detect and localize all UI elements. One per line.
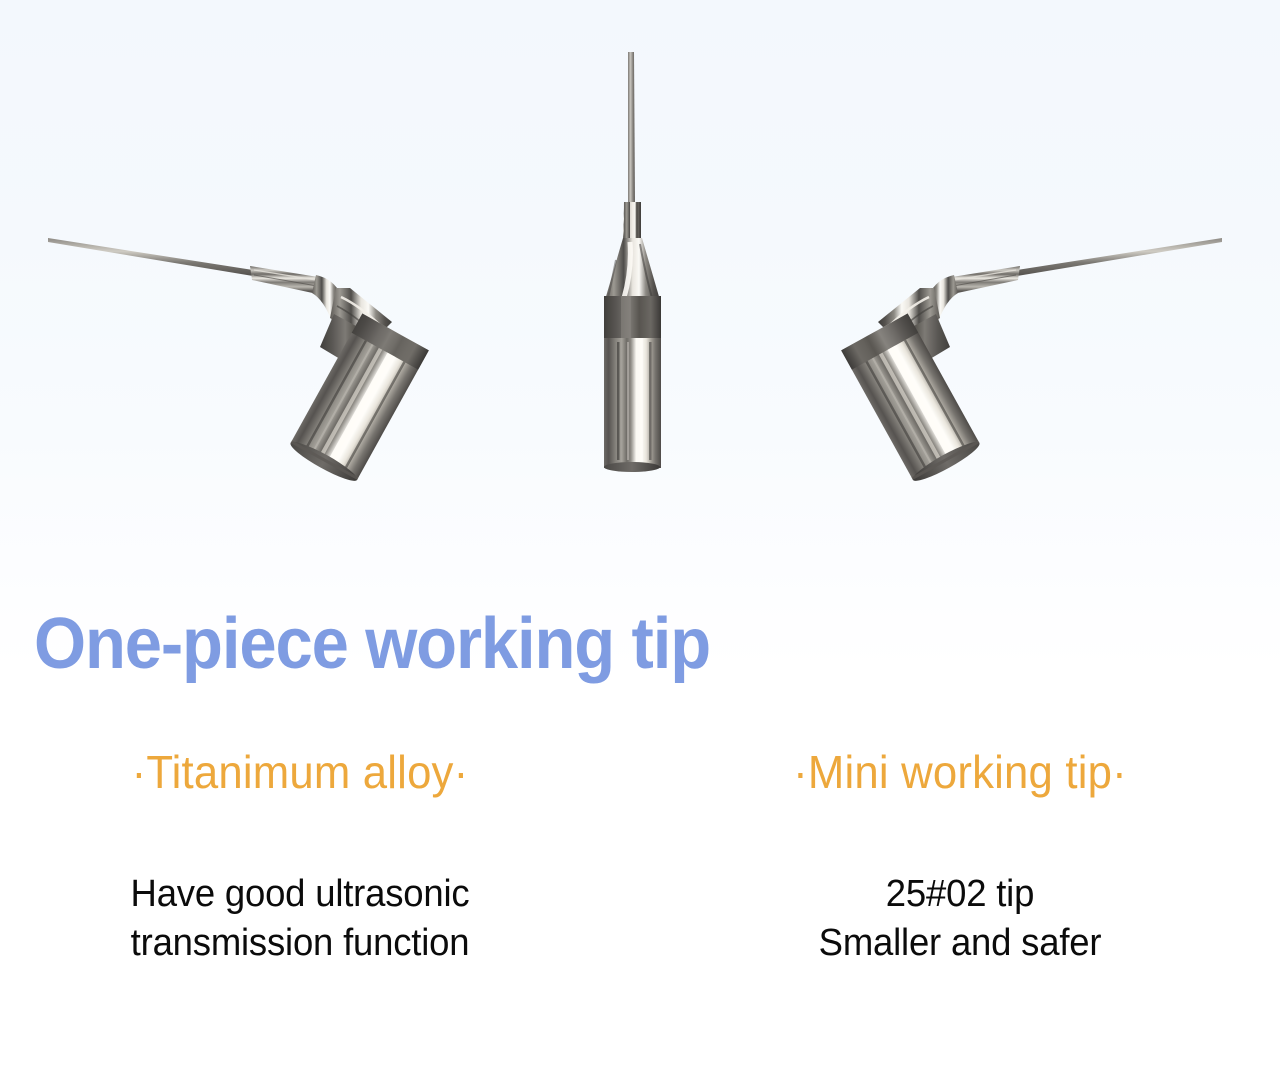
feature-title-titanium-alloy: ·Titanimum alloy· [34,746,566,798]
tip-right [841,238,1222,486]
feature-body-mini-working-tip: 25#02 tip Smaller and safer [691,870,1229,968]
tip-center [604,52,661,472]
promo-slide: One-piece working tip ·Titanimum alloy· … [0,0,1280,1080]
feature-body-titanium-alloy: Have good ultrasonic transmission functi… [31,870,569,968]
feature-column-mini-working-tip: ·Mini working tip· 25#02 tip Smaller and… [680,746,1240,968]
feature-body-line: transmission function [31,919,569,968]
page-title: One-piece working tip [34,605,710,683]
tip-left [48,238,429,486]
feature-body-line: Smaller and safer [691,919,1229,968]
feature-body-line: 25#02 tip [691,870,1229,919]
product-image [0,0,1280,560]
feature-column-titanium-alloy: ·Titanimum alloy· Have good ultrasonic t… [20,746,580,968]
feature-body-line: Have good ultrasonic [31,870,569,919]
copy-block: One-piece working tip ·Titanimum alloy· … [0,560,1280,1080]
feature-title-mini-working-tip: ·Mini working tip· [694,746,1226,798]
